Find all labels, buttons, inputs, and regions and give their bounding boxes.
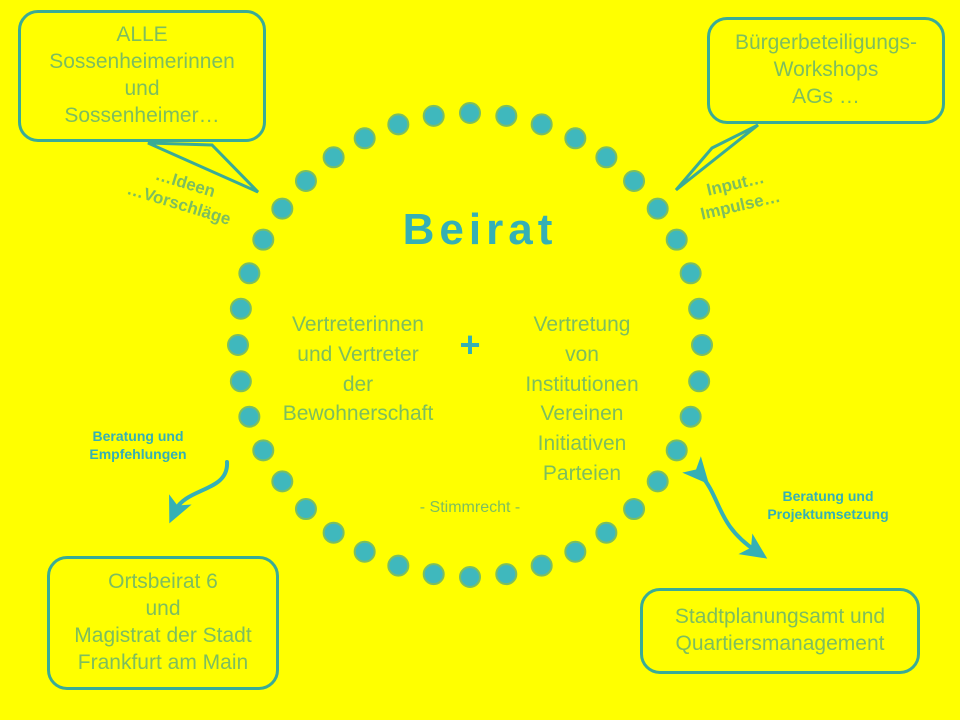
ring-dot [324, 523, 344, 543]
callout-line: ALLE [116, 22, 167, 49]
label-line: Beratung und [742, 487, 914, 505]
callout-line: Sossenheimerinnen [49, 49, 235, 76]
ring-dot [532, 556, 552, 576]
center-right-line: Vereinen [492, 399, 672, 429]
center-right-line: Initiativen [492, 429, 672, 459]
ring-dot [460, 103, 480, 123]
ring-dot [239, 263, 259, 283]
center-left-line: Bewohnerschaft [268, 399, 448, 429]
ring-dot [692, 335, 712, 355]
plus-icon: + [452, 327, 488, 363]
callout-alle-sossenheimer: ALLE Sossenheimerinnen und Sossenheimer… [18, 10, 266, 142]
ring-dot [272, 471, 292, 491]
ring-dot [565, 542, 585, 562]
ring-dot [689, 299, 709, 319]
box-stadtplanungsamt-quartiersmanagement: Stadtplanungsamt und Quartiersmanagement [640, 588, 920, 674]
center-right-line: Parteien [492, 459, 672, 489]
callout-line: AGs … [792, 84, 860, 111]
stimmrecht-note: - Stimmrecht - [370, 499, 570, 517]
center-left-line: und Vertreter [268, 340, 448, 370]
box-line: und [145, 596, 180, 623]
ring-dot [424, 564, 444, 584]
ring-dot [253, 440, 273, 460]
label-line: Projektumsetzung [742, 505, 914, 523]
ring-dot [689, 371, 709, 391]
ring-dot [596, 147, 616, 167]
ring-dot [355, 542, 375, 562]
ring-dot [460, 567, 480, 587]
page-title: Beirat [0, 205, 960, 255]
ring-dot [424, 106, 444, 126]
callout-line: Bürgerbeteiligungs- [735, 30, 917, 57]
ring-dot [681, 263, 701, 283]
ring-dot [624, 499, 644, 519]
box-line: Ortsbeirat 6 [108, 569, 218, 596]
ring-dot [388, 556, 408, 576]
box-line: Stadtplanungsamt und [675, 604, 885, 631]
label-line: Beratung und [68, 427, 208, 445]
box-ortsbeirat-magistrat: Ortsbeirat 6 und Magistrat der Stadt Fra… [47, 556, 279, 690]
center-left-line: Vertreterinnen [268, 310, 448, 340]
ring-dot [596, 523, 616, 543]
center-right-line: Vertretung [492, 310, 672, 340]
ring-dot [565, 128, 585, 148]
label-beratung-empfehlungen: Beratung und Empfehlungen [68, 427, 208, 464]
center-left-column: Vertreterinnen und Vertreter der Bewohne… [268, 310, 448, 429]
box-line: Magistrat der Stadt [74, 623, 251, 650]
diagram-canvas: Beirat Vertreterinnen und Vertreter der … [0, 0, 960, 720]
ring-dot [681, 407, 701, 427]
box-line: Quartiersmanagement [676, 631, 885, 658]
ring-dot [296, 499, 316, 519]
callout-line: und [124, 76, 159, 103]
callout-buergerbeteiligungs-workshops: Bürgerbeteiligungs- Workshops AGs … [707, 17, 945, 124]
callout-line: Workshops [774, 57, 879, 84]
box-line: Frankfurt am Main [78, 650, 248, 677]
center-left-line: der [268, 370, 448, 400]
ring-dot [355, 128, 375, 148]
ring-dot [231, 299, 251, 319]
ring-dot [296, 171, 316, 191]
ring-dot [496, 564, 516, 584]
arrow-beratung-empfehlungen [175, 462, 227, 511]
label-line: Empfehlungen [68, 445, 208, 463]
ring-dot [532, 114, 552, 134]
label-beratung-projektumsetzung: Beratung und Projektumsetzung [742, 487, 914, 524]
ring-dot [496, 106, 516, 126]
ring-dot [624, 171, 644, 191]
center-right-line: von [492, 340, 672, 370]
center-right-column: Vertretung von Institutionen Vereinen In… [492, 310, 672, 489]
callout-line: Sossenheimer… [64, 103, 219, 130]
ring-dot [231, 371, 251, 391]
center-right-line: Institutionen [492, 370, 672, 400]
ring-dot [239, 407, 259, 427]
ring-dot [388, 114, 408, 134]
ring-dot [324, 147, 344, 167]
ring-dot [228, 335, 248, 355]
